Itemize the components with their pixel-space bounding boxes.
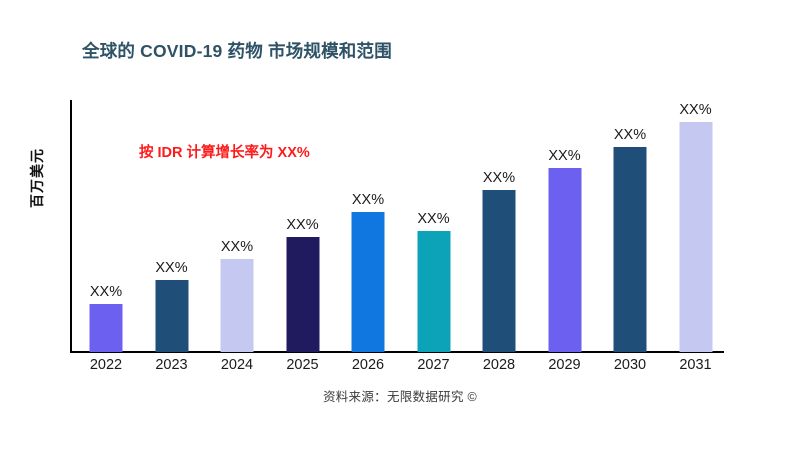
source-note: 资料来源：无限数据研究 ©: [0, 386, 800, 405]
bar[interactable]: [155, 280, 188, 352]
bar-value-label: XX%: [90, 284, 122, 300]
bar-value-label: XX%: [483, 170, 515, 186]
bar-value-label: XX%: [221, 239, 253, 255]
bar-group: XX%: [139, 100, 205, 352]
bar-group: XX%: [335, 100, 401, 352]
bar-group: XX%: [270, 100, 336, 352]
x-axis-tick-labels: 2022202320242025202620272028202920302031: [70, 357, 800, 381]
x-tick-label: 2030: [597, 357, 663, 373]
bar[interactable]: [483, 190, 516, 352]
x-tick-label: 2027: [401, 357, 467, 373]
bar[interactable]: [352, 212, 385, 352]
bar-value-label: XX%: [155, 260, 187, 276]
x-tick-label: 2028: [466, 357, 532, 373]
bar-group: XX%: [532, 100, 598, 352]
plot-area: XX%XX%XX%XX%XX%XX%XX%XX%XX%XX%: [70, 100, 800, 352]
x-tick-label: 2026: [335, 357, 401, 373]
bar-group: XX%: [663, 100, 729, 352]
x-tick-label: 2025: [270, 357, 336, 373]
chart-title: 全球的 COVID-19 药物 市场规模和范围: [82, 38, 392, 63]
x-tick-label: 2029: [532, 357, 598, 373]
bar-value-label: XX%: [614, 127, 646, 143]
bar-chart: 全球的 COVID-19 药物 市场规模和范围 百万美元 按 IDR 计算增长率…: [0, 0, 800, 450]
bar[interactable]: [614, 147, 647, 352]
x-tick-label: 2031: [663, 357, 729, 373]
bar-group: XX%: [597, 100, 663, 352]
x-tick-label: 2024: [204, 357, 270, 373]
bar-value-label: XX%: [548, 148, 580, 164]
bar[interactable]: [286, 237, 319, 352]
bar-value-label: XX%: [352, 192, 384, 208]
bar-value-label: XX%: [679, 102, 711, 118]
bar-value-label: XX%: [286, 217, 318, 233]
bar-group: XX%: [466, 100, 532, 352]
bar[interactable]: [90, 304, 123, 352]
x-tick-label: 2022: [73, 357, 139, 373]
bar-group: XX%: [401, 100, 467, 352]
bar[interactable]: [548, 168, 581, 352]
x-tick-label: 2023: [139, 357, 205, 373]
bar-value-label: XX%: [417, 211, 449, 227]
y-axis-label: 百万美元: [27, 123, 47, 233]
bar-group: XX%: [73, 100, 139, 352]
bar[interactable]: [679, 122, 712, 352]
bar[interactable]: [417, 231, 450, 352]
bar[interactable]: [221, 259, 254, 352]
bar-group: XX%: [204, 100, 270, 352]
